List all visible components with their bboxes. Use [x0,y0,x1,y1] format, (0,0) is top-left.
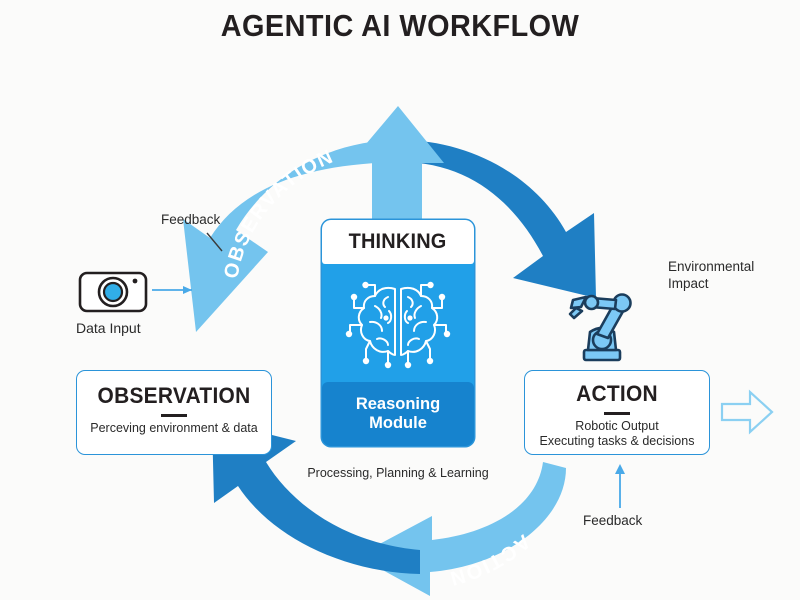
robot-arm-icon [560,278,644,362]
action-card[interactable]: ACTION Robotic Output Executing tasks & … [524,370,710,455]
action-arrow [357,462,566,596]
thinking-card-footer: Reasoning Module [322,382,474,446]
action-card-subtitle-line-2: Executing tasks & decisions [525,434,709,449]
page-title: AGENTIC AI WORKFLOW [28,8,772,44]
feedback-left-pointer-icon [207,233,222,251]
observation-card[interactable]: OBSERVATION Perceving environment & data [76,370,272,455]
observation-card-divider [161,414,187,417]
action-card-divider [604,412,630,415]
feedback-left-label: Feedback [161,211,220,228]
action-card-subtitle-line-1: Robotic Output [525,419,709,434]
observation-card-title: OBSERVATION [82,383,266,409]
thinking-card-title: THINKING [349,230,447,254]
thinking-card-body [322,264,474,382]
action-card-title: ACTION [530,381,705,407]
thinking-card[interactable]: THINKING [322,220,474,446]
thinking-caption: Processing, Planning & Learning [292,466,504,480]
observation-card-subtitle: Perceving environment & data [77,421,271,436]
feedback-right-arrow-icon [615,464,625,508]
feedback-right-label: Feedback [583,512,642,529]
camera-icon [78,267,148,315]
brain-circuit-icon [342,273,454,373]
thinking-footer-line-2: Module [369,414,427,433]
environmental-impact-line-1: Environmental [668,258,778,275]
action-arc-label: ACTION [446,530,534,590]
environmental-impact-line-2: Impact [668,275,778,292]
diagram-canvas: AGENTIC AI WORKFLOW OBSERVATION [0,0,800,600]
observation-arc-label: OBSERVATION [220,145,337,280]
data-input-arrow-icon [152,286,192,294]
environmental-impact-label: Environmental Impact [668,258,778,292]
data-input-label: Data Input [76,320,141,337]
thinking-card-header: THINKING [322,220,474,264]
arrow-right-outline-icon [722,392,772,432]
thinking-footer-line-1: Reasoning [356,395,440,414]
